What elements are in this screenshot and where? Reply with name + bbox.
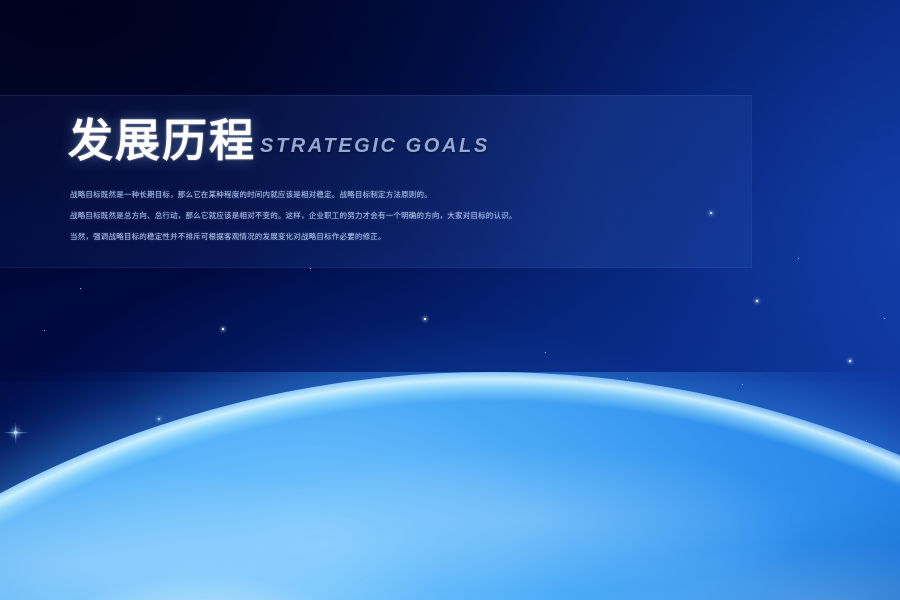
earth-globe xyxy=(0,372,900,600)
description-block: 战略目标既然是一种长期目标，那么它在某种程度的时间内就应该是相对稳定。战略目标制… xyxy=(70,186,730,245)
description-line: 战略目标既然是一种长期目标，那么它在某种程度的时间内就应该是相对稳定。战略目标制… xyxy=(70,186,730,203)
page-subtitle: STRATEGIC GOALS xyxy=(260,135,490,158)
description-line: 战略目标既然是总方向、总行动，那么它就应该是相对不变的。这样，企业职工的努力才会… xyxy=(70,207,730,224)
description-line: 当然，强调战略目标的稳定性并不排斥可根据客观情况的发展变化对战略目标作必要的修正… xyxy=(70,228,730,245)
page-title: 发展历程 xyxy=(68,118,256,163)
banner-stage: 发展历程 STRATEGIC GOALS 战略目标既然是一种长期目标，那么它在某… xyxy=(0,0,900,600)
headline-group: 发展历程 STRATEGIC GOALS xyxy=(68,118,490,163)
